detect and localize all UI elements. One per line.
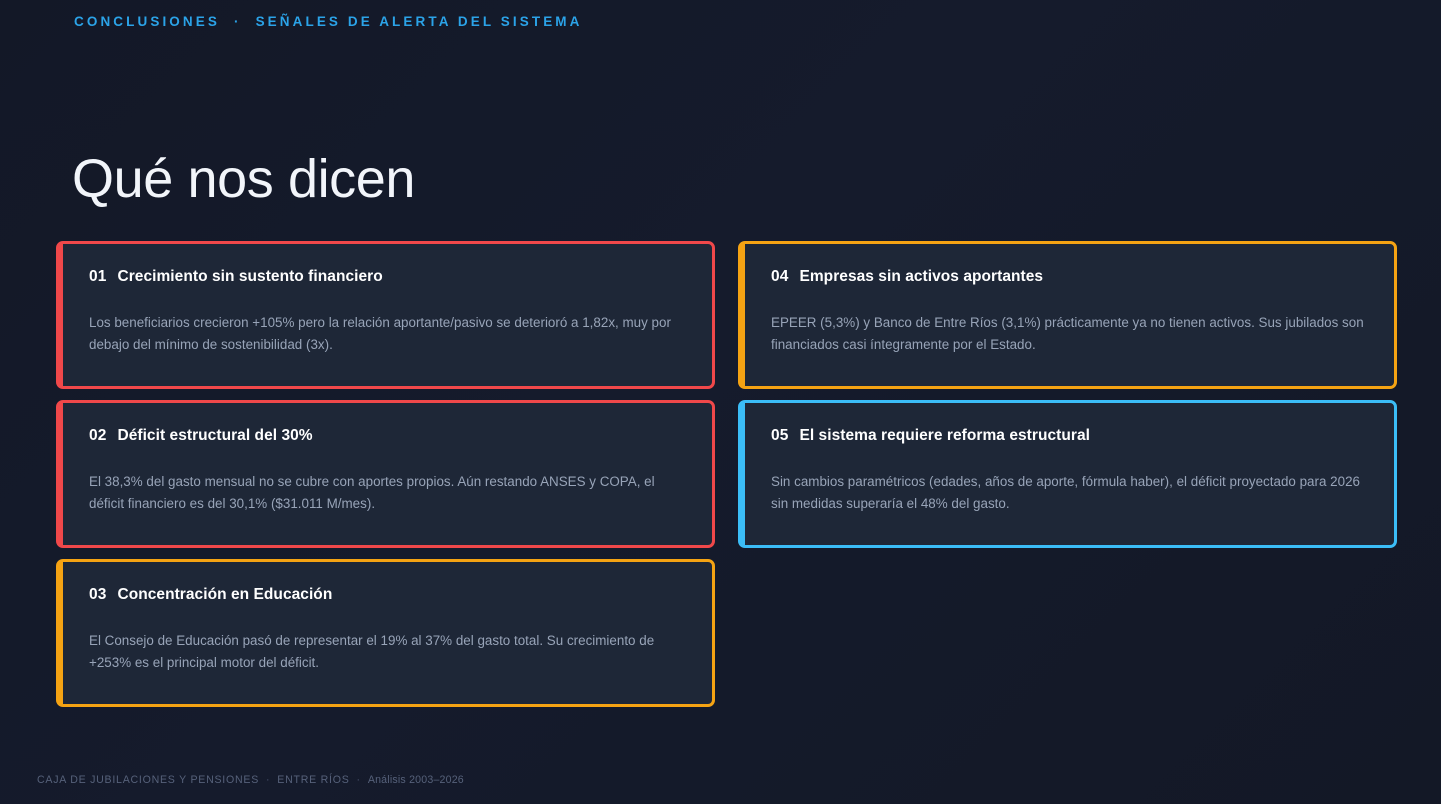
footer-separator-1: · xyxy=(259,774,277,786)
footer-separator-2: · xyxy=(350,774,368,786)
card-title: Concentración en Educación xyxy=(117,586,332,604)
conclusions-grid: 01 Crecimiento sin sustento financiero L… xyxy=(56,241,1397,709)
conclusion-card-01[interactable]: 01 Crecimiento sin sustento financiero L… xyxy=(56,241,715,389)
card-title: Crecimiento sin sustento financiero xyxy=(117,268,382,286)
card-title: Déficit estructural del 30% xyxy=(117,427,312,445)
card-header: 02 Déficit estructural del 30% xyxy=(89,427,686,445)
eyebrow-separator: · xyxy=(220,14,256,29)
card-body-text: Sin cambios paramétricos (edades, años d… xyxy=(771,471,1368,514)
slide-canvas: CONCLUSIONES · SEÑALES DE ALERTA DEL SIS… xyxy=(0,0,1441,804)
conclusion-card-02[interactable]: 02 Déficit estructural del 30% El 38,3% … xyxy=(56,400,715,548)
card-header: 03 Concentración en Educación xyxy=(89,586,686,604)
conclusion-card-03[interactable]: 03 Concentración en Educación El Consejo… xyxy=(56,559,715,707)
footer-region: ENTRE RÍOS xyxy=(277,774,349,786)
card-number: 01 xyxy=(89,268,106,286)
card-body-text: Los beneficiarios crecieron +105% pero l… xyxy=(89,312,686,355)
card-number: 02 xyxy=(89,427,106,445)
card-number: 05 xyxy=(771,427,788,445)
page-title-line-1: Qué nos dicen xyxy=(72,144,480,216)
card-body-text: EPEER (5,3%) y Banco de Entre Ríos (3,1%… xyxy=(771,312,1368,355)
footer-organization: CAJA DE JUBILACIONES Y PENSIONES xyxy=(37,774,259,786)
eyebrow-heading: CONCLUSIONES · SEÑALES DE ALERTA DEL SIS… xyxy=(74,14,583,29)
footer-caption: CAJA DE JUBILACIONES Y PENSIONES · ENTRE… xyxy=(37,774,464,786)
card-title: El sistema requiere reforma estructural xyxy=(799,427,1090,445)
conclusion-card-04[interactable]: 04 Empresas sin activos aportantes EPEER… xyxy=(738,241,1397,389)
card-number: 04 xyxy=(771,268,788,286)
card-title: Empresas sin activos aportantes xyxy=(799,268,1043,286)
card-header: 04 Empresas sin activos aportantes xyxy=(771,268,1368,286)
card-number: 03 xyxy=(89,586,106,604)
card-header: 01 Crecimiento sin sustento financiero xyxy=(89,268,686,286)
card-header: 05 El sistema requiere reforma estructur… xyxy=(771,427,1368,445)
card-body-text: El Consejo de Educación pasó de represen… xyxy=(89,630,686,673)
eyebrow-right-label: SEÑALES DE ALERTA DEL SISTEMA xyxy=(256,14,583,29)
eyebrow-left-label: CONCLUSIONES xyxy=(74,14,220,29)
conclusion-card-05[interactable]: 05 El sistema requiere reforma estructur… xyxy=(738,400,1397,548)
footer-analysis-range: Análisis 2003–2026 xyxy=(368,774,464,786)
card-body-text: El 38,3% del gasto mensual no se cubre c… xyxy=(89,471,686,514)
